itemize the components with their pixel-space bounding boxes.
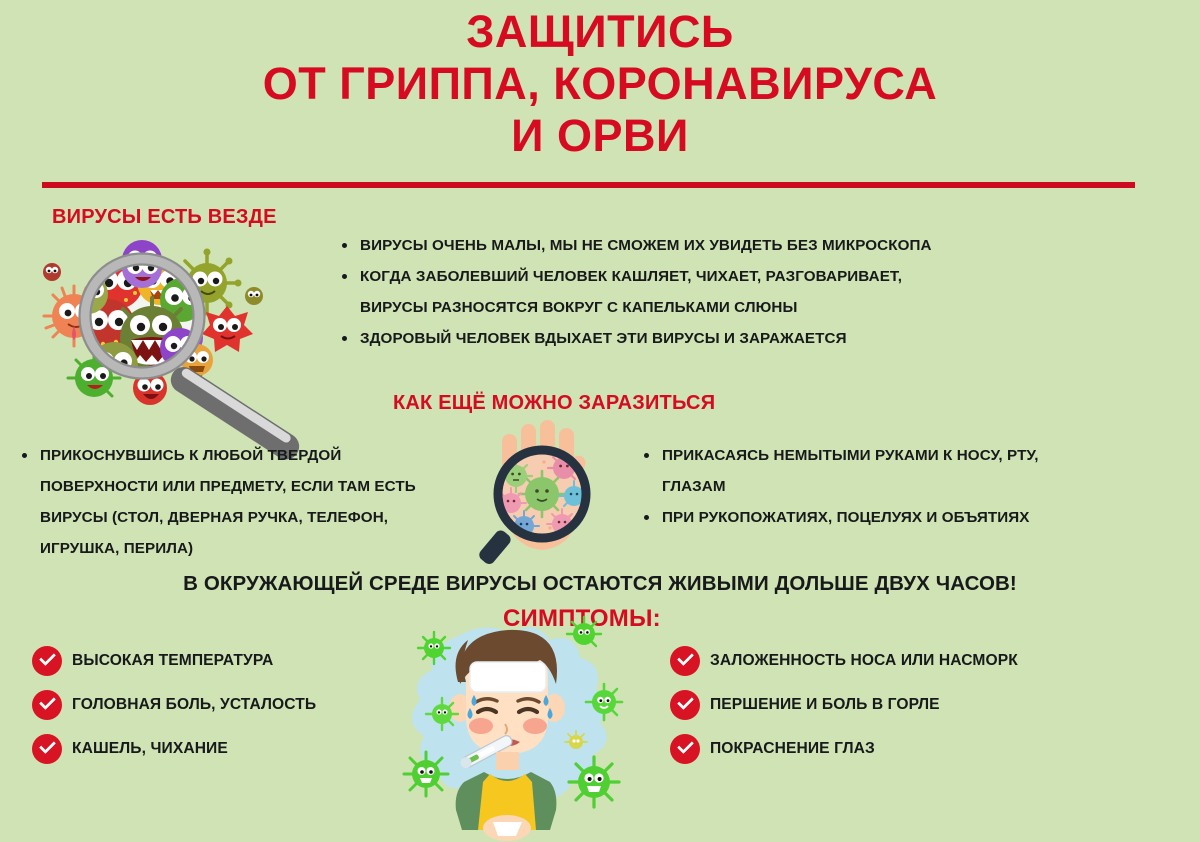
symptom-label: ПОКРАСНЕНИЕ ГЛАЗ <box>710 740 875 758</box>
heading-how-else-infected: КАК ЕЩЁ МОЖНО ЗАРАЗИТЬСЯ <box>393 392 715 415</box>
hand-magnifier-illustration <box>466 418 626 570</box>
list-item: ПОКРАСНЕНИЕ ГЛАЗ <box>670 728 1018 769</box>
list-item: ГОЛОВНАЯ БОЛЬ, УСТАЛОСТЬ <box>32 684 316 725</box>
bullet-text-cont: ИГРУШКА, ПЕРИЛА) <box>40 533 488 564</box>
bullet-dot-icon <box>644 453 649 458</box>
bullet-text: ПРИ РУКОПОЖАТИЯХ, ПОЦЕЛУЯХ И ОБЪЯТИЯХ <box>662 502 1110 533</box>
check-circle-icon <box>670 646 700 676</box>
heading-viruses-everywhere: ВИРУСЫ ЕСТЬ ВЕЗДЕ <box>52 206 277 229</box>
bullet-dot-icon <box>644 515 649 520</box>
check-circle-icon <box>32 734 62 764</box>
list-item: ЗАЛОЖЕННОСТЬ НОСА ИЛИ НАСМОРК <box>670 640 1018 681</box>
list-item: ПРИКАСАЯСЬ НЕМЫТЫМИ РУКАМИ К НОСУ, РТУ, … <box>640 440 1110 502</box>
bullet-list-touch-surfaces: ПРИКОСНУВШИСЬ К ЛЮБОЙ ТВЕРДОЙ ПОВЕРХНОСТ… <box>18 440 488 564</box>
poster-title: ЗАЩИТИСЬ ОТ ГРИППА, КОРОНАВИРУСА И ОРВИ <box>0 6 1200 162</box>
symptom-label: ВЫСОКАЯ ТЕМПЕРАТУРА <box>72 652 273 670</box>
check-circle-icon <box>670 734 700 764</box>
list-item: ПРИ РУКОПОЖАТИЯХ, ПОЦЕЛУЯХ И ОБЪЯТИЯХ <box>640 502 1110 533</box>
symptom-list-right: ЗАЛОЖЕННОСТЬ НОСА ИЛИ НАСМОРК ПЕРШЕНИЕ И… <box>670 640 1018 772</box>
list-item: ПРИКОСНУВШИСЬ К ЛЮБОЙ ТВЕРДОЙ ПОВЕРХНОСТ… <box>18 440 488 564</box>
title-line-3: И ОРВИ <box>0 110 1200 162</box>
list-item: ПЕРШЕНИЕ И БОЛЬ В ГОРЛЕ <box>670 684 1018 725</box>
list-item: ЗДОРОВЫЙ ЧЕЛОВЕК ВДЫХАЕТ ЭТИ ВИРУСЫ И ЗА… <box>338 323 1018 354</box>
list-item: КАШЕЛЬ, ЧИХАНИЕ <box>32 728 316 769</box>
bullet-text: ПРИКАСАЯСЬ НЕМЫТЫМИ РУКАМИ К НОСУ, РТУ, <box>662 440 1110 471</box>
bullet-text-cont: ГЛАЗАМ <box>662 471 1110 502</box>
symptom-label: ПЕРШЕНИЕ И БОЛЬ В ГОРЛЕ <box>710 696 940 714</box>
bullet-text-cont: ВИРУСЫ РАЗНОСЯТСЯ ВОКРУГ С КАПЕЛЬКАМИ СЛ… <box>360 292 1018 323</box>
bullet-list-hands-contact: ПРИКАСАЯСЬ НЕМЫТЫМИ РУКАМИ К НОСУ, РТУ, … <box>640 440 1110 533</box>
list-item: ВИРУСЫ ОЧЕНЬ МАЛЫ, МЫ НЕ СМОЖЕМ ИХ УВИДЕ… <box>338 230 1018 261</box>
title-divider-rule <box>42 182 1135 188</box>
check-circle-icon <box>670 690 700 720</box>
list-item: ВЫСОКАЯ ТЕМПЕРАТУРА <box>32 640 316 681</box>
bullet-text: ПРИКОСНУВШИСЬ К ЛЮБОЙ ТВЕРДОЙ <box>40 440 488 471</box>
bullet-dot-icon <box>342 336 347 341</box>
symptom-list-left: ВЫСОКАЯ ТЕМПЕРАТУРА ГОЛОВНАЯ БОЛЬ, УСТАЛ… <box>32 640 316 772</box>
bullet-dot-icon <box>22 453 27 458</box>
bullet-text-cont: ПОВЕРХНОСТИ ИЛИ ПРЕДМЕТУ, ЕСЛИ ТАМ ЕСТЬ <box>40 471 488 502</box>
title-line-2: ОТ ГРИППА, КОРОНАВИРУСА <box>0 58 1200 110</box>
bullet-dot-icon <box>342 243 347 248</box>
germs-magnifier-illustration <box>22 238 344 410</box>
bullet-list-virus-spread: ВИРУСЫ ОЧЕНЬ МАЛЫ, МЫ НЕ СМОЖЕМ ИХ УВИДЕ… <box>338 230 1018 354</box>
bullet-text: ЗДОРОВЫЙ ЧЕЛОВЕК ВДЫХАЕТ ЭТИ ВИРУСЫ И ЗА… <box>360 323 1018 354</box>
title-line-1: ЗАЩИТИСЬ <box>0 6 1200 58</box>
check-circle-icon <box>32 690 62 720</box>
bullet-text: ВИРУСЫ ОЧЕНЬ МАЛЫ, МЫ НЕ СМОЖЕМ ИХ УВИДЕ… <box>360 230 1018 261</box>
symptom-label: КАШЕЛЬ, ЧИХАНИЕ <box>72 740 228 758</box>
warning-survival-time: В ОКРУЖАЮЩЕЙ СРЕДЕ ВИРУСЫ ОСТАЮТСЯ ЖИВЫМ… <box>0 572 1200 596</box>
check-circle-icon <box>32 646 62 676</box>
sick-boy-illustration <box>398 596 646 842</box>
bullet-text-cont: ВИРУСЫ (СТОЛ, ДВЕРНАЯ РУЧКА, ТЕЛЕФОН, <box>40 502 488 533</box>
bullet-dot-icon <box>342 274 347 279</box>
poster-canvas: ЗАЩИТИСЬ ОТ ГРИППА, КОРОНАВИРУСА И ОРВИ … <box>0 0 1200 842</box>
bullet-text: КОГДА ЗАБОЛЕВШИЙ ЧЕЛОВЕК КАШЛЯЕТ, ЧИХАЕТ… <box>360 261 1018 292</box>
symptom-label: ГОЛОВНАЯ БОЛЬ, УСТАЛОСТЬ <box>72 696 316 714</box>
symptom-label: ЗАЛОЖЕННОСТЬ НОСА ИЛИ НАСМОРК <box>710 652 1018 670</box>
list-item: КОГДА ЗАБОЛЕВШИЙ ЧЕЛОВЕК КАШЛЯЕТ, ЧИХАЕТ… <box>338 261 1018 323</box>
